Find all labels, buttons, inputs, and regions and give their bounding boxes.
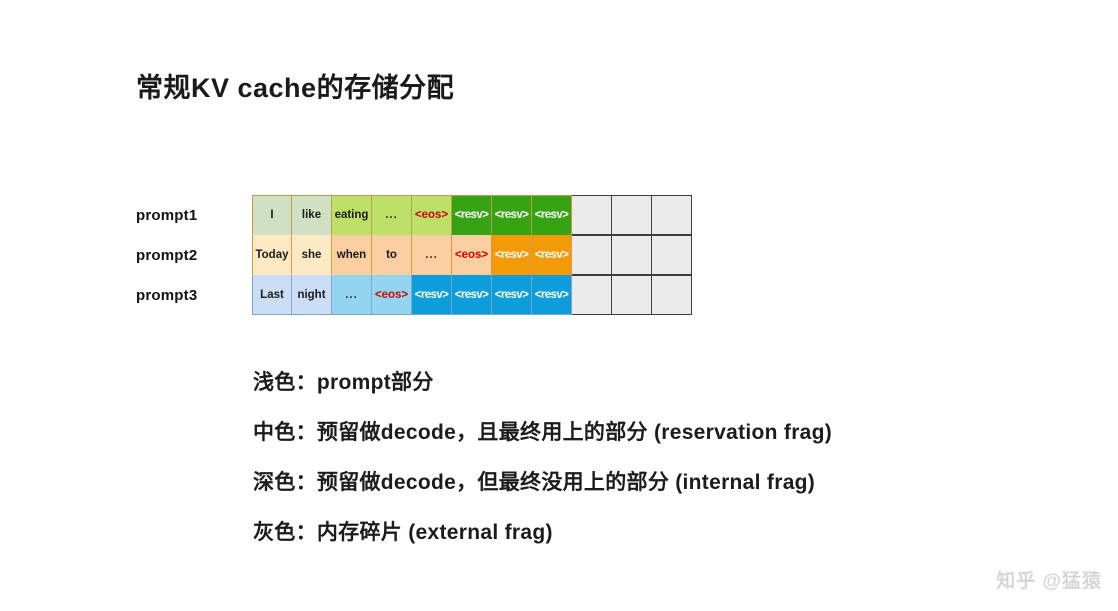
resv-token: <resv> <box>495 249 529 261</box>
word-token: I <box>270 209 273 221</box>
legend: 浅色：prompt部分中色：预留做decode，且最终用上的部分 (reserv… <box>253 358 832 558</box>
diagram-row: prompt3Lastnight...<eos><resv><resv><res… <box>136 275 692 315</box>
cell-prompt-token: night <box>292 275 332 315</box>
legend-line-2: 中色：预留做decode，且最终用上的部分 (reservation frag) <box>253 408 832 458</box>
cell-external-frag <box>652 195 692 235</box>
word-token: when <box>337 249 366 261</box>
resv-token: <resv> <box>415 289 449 301</box>
eos-token: <eos> <box>375 289 408 301</box>
cell-internal-frag: <resv> <box>412 275 452 315</box>
diagram-row: prompt2Todayshewhento...<eos><resv><resv… <box>136 235 692 275</box>
cell-reservation-frag: <eos> <box>412 195 452 235</box>
cell-prompt-token: Last <box>252 275 292 315</box>
legend-line-3: 深色：预留做decode，但最终没用上的部分 (internal frag) <box>253 458 832 508</box>
legend-line-1: 浅色：prompt部分 <box>253 358 832 408</box>
kv-cache-diagram: prompt1Ilikeeating...<eos><resv><resv><r… <box>136 195 692 315</box>
cell-external-frag <box>572 275 612 315</box>
cell-prompt-token: she <box>292 235 332 275</box>
eos-token: <eos> <box>415 209 448 221</box>
word-token: night <box>297 289 325 301</box>
eos-token: <eos> <box>455 249 488 261</box>
cell-reservation-frag: ... <box>332 275 372 315</box>
word-token: to <box>386 249 397 261</box>
cell-prompt-token: like <box>292 195 332 235</box>
row-cells: Todayshewhento...<eos><resv><resv> <box>252 235 692 275</box>
cell-prompt-token: Today <box>252 235 292 275</box>
cell-internal-frag: <resv> <box>532 195 572 235</box>
cell-reservation-frag: to <box>372 235 412 275</box>
legend-line-4: 灰色：内存碎片 (external frag) <box>253 508 832 558</box>
ellipsis-token: ... <box>425 249 438 261</box>
ellipsis-token: ... <box>345 289 358 301</box>
cell-internal-frag: <resv> <box>452 275 492 315</box>
row-cells: Ilikeeating...<eos><resv><resv><resv> <box>252 195 692 235</box>
resv-token: <resv> <box>495 209 529 221</box>
cell-prompt-token: I <box>252 195 292 235</box>
cell-internal-frag: <resv> <box>492 195 532 235</box>
row-label-prompt2: prompt2 <box>136 235 252 275</box>
resv-token: <resv> <box>455 209 489 221</box>
resv-token: <resv> <box>455 289 489 301</box>
word-token: eating <box>335 209 369 221</box>
word-token: like <box>302 209 321 221</box>
cell-reservation-frag: ... <box>372 195 412 235</box>
ellipsis-token: ... <box>385 209 398 221</box>
row-label-prompt3: prompt3 <box>136 275 252 315</box>
row-label-prompt1: prompt1 <box>136 195 252 235</box>
cell-reservation-frag: when <box>332 235 372 275</box>
resv-token: <resv> <box>495 289 529 301</box>
cell-reservation-frag: <eos> <box>452 235 492 275</box>
cell-external-frag <box>572 235 612 275</box>
cell-internal-frag: <resv> <box>452 195 492 235</box>
page-title: 常规KV cache的存储分配 <box>136 66 454 105</box>
diagram-row: prompt1Ilikeeating...<eos><resv><resv><r… <box>136 195 692 235</box>
cell-external-frag <box>652 275 692 315</box>
resv-token: <resv> <box>535 249 569 261</box>
cell-external-frag <box>612 195 652 235</box>
cell-internal-frag: <resv> <box>492 275 532 315</box>
cell-external-frag <box>572 195 612 235</box>
resv-token: <resv> <box>535 289 569 301</box>
resv-token: <resv> <box>535 209 569 221</box>
row-cells: Lastnight...<eos><resv><resv><resv><resv… <box>252 275 692 315</box>
cell-external-frag <box>612 235 652 275</box>
cell-reservation-frag: <eos> <box>372 275 412 315</box>
cell-internal-frag: <resv> <box>492 235 532 275</box>
watermark: 知乎 @猛猿 <box>996 566 1102 593</box>
cell-internal-frag: <resv> <box>532 275 572 315</box>
cell-internal-frag: <resv> <box>532 235 572 275</box>
word-token: she <box>302 249 322 261</box>
cell-external-frag <box>652 235 692 275</box>
cell-reservation-frag: ... <box>412 235 452 275</box>
word-token: Last <box>260 289 284 301</box>
cell-external-frag <box>612 275 652 315</box>
cell-reservation-frag: eating <box>332 195 372 235</box>
word-token: Today <box>255 249 288 261</box>
